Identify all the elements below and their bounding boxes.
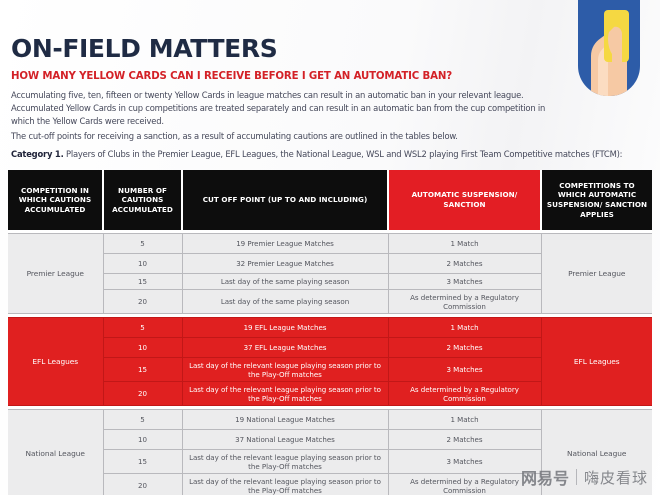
column-header-competition: COMPETITION IN WHICH CAUTIONS ACCUMULATE… <box>8 170 103 230</box>
cell-sanction: 2 Matches <box>388 254 541 274</box>
hand-holding-yellow-card-icon <box>578 0 640 96</box>
cell-cut-off: 37 National League Matches <box>182 430 388 450</box>
cell-cautions: 20 <box>103 382 182 406</box>
cell-cautions: 20 <box>103 290 182 314</box>
page-subtitle: HOW MANY YELLOW CARDS CAN I RECEIVE BEFO… <box>11 71 452 82</box>
cell-cut-off: 19 Premier League Matches <box>182 234 388 254</box>
table-row: Premier League 5 19 Premier League Match… <box>8 234 652 254</box>
column-header-automatic-suspension: AUTOMATIC SUSPENSION/ SANCTION <box>388 170 541 230</box>
cautions-table: COMPETITION IN WHICH CAUTIONS ACCUMULATE… <box>8 170 652 495</box>
cell-cut-off: Last day of the relevant league playing … <box>182 382 388 406</box>
cell-cautions: 5 <box>103 410 182 430</box>
category-line: Category 1. Players of Clubs in the Prem… <box>11 148 659 161</box>
cell-cautions: 20 <box>103 474 182 495</box>
cell-cautions: 15 <box>103 450 182 474</box>
group-applies-to-label: EFL Leagues <box>541 318 652 406</box>
cell-cut-off: 37 EFL League Matches <box>182 338 388 358</box>
column-header-applies-to: COMPETITIONS TO WHICH AUTOMATIC SUSPENSI… <box>541 170 652 230</box>
cell-cautions: 10 <box>103 430 182 450</box>
cell-cut-off: Last day of the same playing season <box>182 290 388 314</box>
cell-cut-off: Last day of the same playing season <box>182 274 388 290</box>
cell-sanction: 3 Matches <box>388 274 541 290</box>
watermark: 网易号 嗨皮看球 <box>521 465 648 489</box>
intro-paragraph-1: Accumulating five, ten, fifteen or twent… <box>11 89 551 129</box>
cell-sanction: 1 Match <box>388 410 541 430</box>
category-label: Category 1. <box>11 149 64 159</box>
category-text: Players of Clubs in the Premier League, … <box>64 149 623 159</box>
column-header-cut-off-point: CUT OFF POINT (UP TO AND INCLUDING) <box>182 170 388 230</box>
cell-sanction: As determined by a Regulatory Commission <box>388 474 541 495</box>
cell-sanction: 2 Matches <box>388 338 541 358</box>
cell-sanction: 3 Matches <box>388 450 541 474</box>
cell-sanction: 1 Match <box>388 318 541 338</box>
document-page: ON-FIELD MATTERS HOW MANY YELLOW CARDS C… <box>0 0 660 495</box>
cell-cut-off: 19 National League Matches <box>182 410 388 430</box>
page-title: ON-FIELD MATTERS <box>11 34 277 63</box>
cell-cautions: 5 <box>103 234 182 254</box>
watermark-logo: 网易号 <box>521 465 569 489</box>
cell-sanction: 2 Matches <box>388 430 541 450</box>
cell-sanction: 1 Match <box>388 234 541 254</box>
table-header-row: COMPETITION IN WHICH CAUTIONS ACCUMULATE… <box>8 170 652 230</box>
intro-paragraph-2: The cut-off points for receiving a sanct… <box>11 130 571 143</box>
watermark-name: 嗨皮看球 <box>584 467 648 488</box>
cell-cut-off: Last day of the relevant league playing … <box>182 474 388 495</box>
cell-cut-off: 19 EFL League Matches <box>182 318 388 338</box>
cell-cautions: 10 <box>103 254 182 274</box>
group-competition-label: National League <box>8 410 103 495</box>
cell-sanction: As determined by a Regulatory Commission <box>388 290 541 314</box>
cell-sanction: 3 Matches <box>388 358 541 382</box>
table-row: EFL Leagues 5 19 EFL League Matches 1 Ma… <box>8 318 652 338</box>
cell-cautions: 10 <box>103 338 182 358</box>
cell-cut-off: Last day of the relevant league playing … <box>182 450 388 474</box>
watermark-divider <box>576 469 577 485</box>
cell-cut-off: 32 Premier League Matches <box>182 254 388 274</box>
group-competition-label: EFL Leagues <box>8 318 103 406</box>
group-competition-label: Premier League <box>8 234 103 314</box>
table-row: National League 5 19 National League Mat… <box>8 410 652 430</box>
group-applies-to-label: Premier League <box>541 234 652 314</box>
cell-cautions: 5 <box>103 318 182 338</box>
cell-cautions: 15 <box>103 358 182 382</box>
cell-cautions: 15 <box>103 274 182 290</box>
cell-cut-off: Last day of the relevant league playing … <box>182 358 388 382</box>
column-header-number-of-cautions: NUMBER OF CAUTIONS ACCUMULATED <box>103 170 182 230</box>
cell-sanction: As determined by a Regulatory Commission <box>388 382 541 406</box>
